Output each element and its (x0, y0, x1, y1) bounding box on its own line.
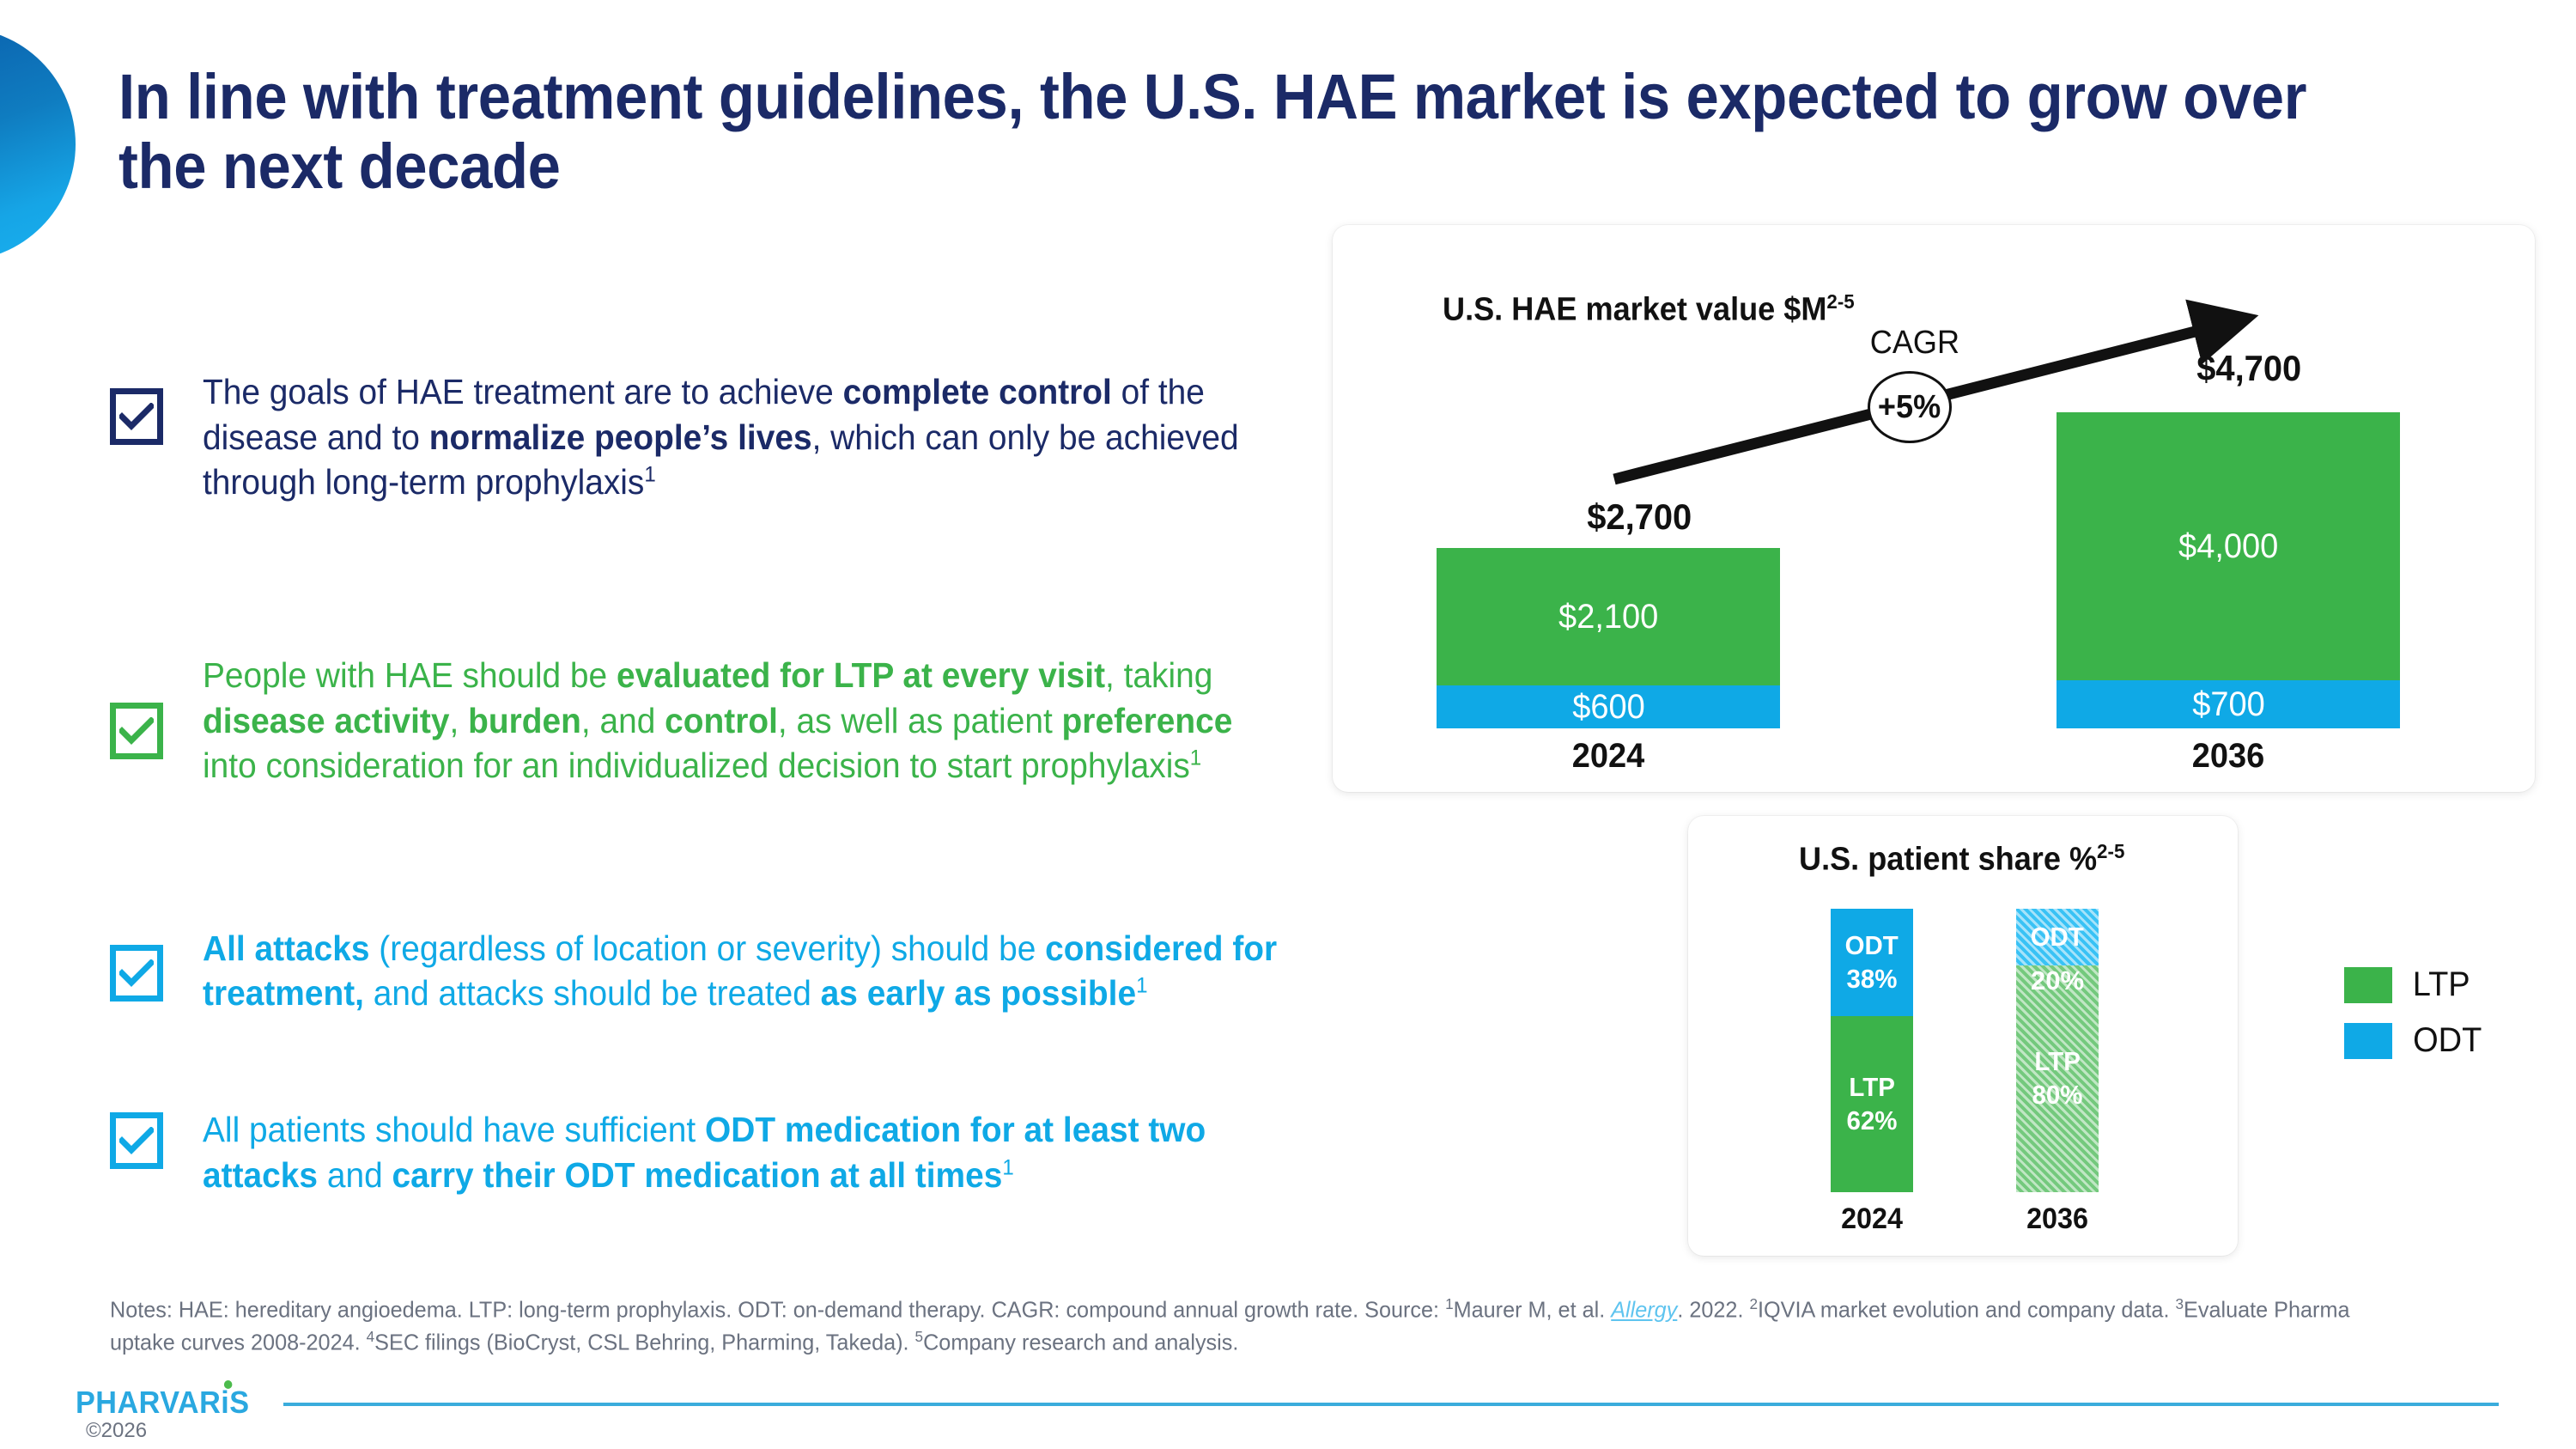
market-bar-2036-odt-value: $700 (2192, 685, 2265, 724)
slide: In line with treatment guidelines, the U… (0, 0, 2576, 1449)
legend-item-odt: ODT (2344, 1021, 2483, 1060)
share-bar-2036-odt-value-wrap: 20% (2016, 965, 2099, 996)
bullet-text-1: The goals of HAE treatment are to achiev… (203, 369, 1292, 505)
logo-part-a: PHARVAR (76, 1385, 221, 1420)
market-bar-2024-ltp: $2,100 (1437, 548, 1780, 685)
notes-sup1: 1 (1445, 1295, 1454, 1312)
market-xlabel-2024: 2024 (1445, 737, 1771, 776)
market-chart-title-text: U.S. HAE market value $M (1443, 292, 1826, 328)
notes-sup4: 4 (367, 1328, 375, 1345)
copyright-text: ©2026 (86, 1419, 147, 1443)
notes-part4: IQVIA market evolution and company data. (1758, 1297, 2175, 1323)
footnotes: Notes: HAE: hereditary angioedema. LTP: … (110, 1294, 2409, 1358)
share-chart-title-text: U.S. patient share % (1799, 842, 2097, 878)
market-bar-2024-ltp-value: $2,100 (1558, 598, 1658, 636)
cagr-label: CAGR (1870, 325, 1959, 362)
logo-part-i: i (221, 1385, 229, 1420)
chart-legend: LTP ODT (2344, 965, 2483, 1077)
share-bar-2024-odt: ODT 38% (1831, 909, 1913, 1016)
notes-part2: Maurer M, et al. (1454, 1297, 1612, 1323)
market-chart-title: U.S. HAE market value $M2-5 (1443, 290, 1855, 329)
legend-label-odt: ODT (2413, 1021, 2482, 1060)
share-bar-2024-odt-name: ODT (1845, 929, 1899, 963)
market-xlabel-2036: 2036 (2065, 737, 2391, 776)
bullet-text-3: All attacks (regardless of location or s… (203, 926, 1292, 1016)
notes-sup5: 5 (915, 1328, 924, 1345)
footer-divider (283, 1403, 2499, 1406)
share-bar-2036-odt: ODT (2016, 909, 2099, 965)
market-total-2024: $2,700 (1587, 496, 1692, 538)
share-bar-2036: ODT LTP 80% 20% (2016, 909, 2099, 1192)
patient-share-card (1688, 816, 2238, 1256)
market-bar-2036-ltp: $4,000 (2057, 412, 2400, 680)
notes-sup2: 2 (1749, 1295, 1758, 1312)
market-bar-2024-odt: $600 (1437, 685, 1780, 728)
list-item: All patients should have sufficient ODT … (110, 1107, 1338, 1197)
cagr-value: +5% (1878, 389, 1941, 426)
logo-part-s: S (229, 1385, 249, 1420)
notes-part3: . 2022. (1677, 1297, 1749, 1323)
share-bar-2024-ltp: LTP 62% (1831, 1016, 1913, 1192)
market-bar-2024-odt-value: $600 (1572, 688, 1645, 727)
list-item: All attacks (regardless of location or s… (110, 926, 1338, 1016)
notes-part6: SEC filings (BioCryst, CSL Behring, Phar… (374, 1329, 914, 1355)
legend-label-ltp: LTP (2413, 965, 2470, 1004)
share-chart-title: U.S. patient share %2-5 (1799, 840, 2124, 879)
share-bar-2024-odt-value: 38% (1847, 963, 1898, 996)
legend-swatch-ltp (2344, 967, 2392, 1003)
market-bar-2036: $4,000 $700 (2057, 412, 2400, 728)
allergy-journal-link[interactable]: Allergy (1611, 1297, 1677, 1323)
share-bar-2036-ltp-value: 80% (2032, 1079, 2083, 1112)
share-bar-2024-ltp-name: LTP (1849, 1071, 1894, 1105)
check-icon (110, 1112, 163, 1169)
share-bar-2024-ltp-value: 62% (1847, 1105, 1898, 1138)
notes-part1: Notes: HAE: hereditary angioedema. LTP: … (110, 1297, 1445, 1323)
legend-item-ltp: LTP (2344, 965, 2483, 1004)
share-bar-2036-ltp-name: LTP (2034, 1045, 2080, 1079)
pharvaris-logo: PHARVARiS (76, 1385, 250, 1421)
list-item: People with HAE should be evaluated for … (110, 653, 1338, 788)
check-icon (110, 703, 163, 759)
market-bar-2036-ltp-value: $4,000 (2178, 527, 2278, 566)
share-bar-2036-odt-name: ODT (2031, 921, 2084, 954)
market-chart-title-sup: 2-5 (1826, 290, 1854, 313)
check-icon (110, 388, 163, 445)
bullet-text-2: People with HAE should be evaluated for … (203, 653, 1292, 788)
share-bar-2036-ltp: LTP 80% (2016, 965, 2099, 1192)
bullet-list: The goals of HAE treatment are to achiev… (110, 369, 1338, 959)
share-chart-title-sup: 2-5 (2097, 840, 2124, 862)
notes-part7: Company research and analysis. (923, 1329, 1238, 1355)
page-title: In line with treatment guidelines, the U… (118, 62, 2354, 202)
bullet-text-4: All patients should have sufficient ODT … (203, 1107, 1292, 1197)
notes-sup3: 3 (2175, 1295, 2184, 1312)
share-bar-2036-odt-value: 20% (2031, 965, 2084, 996)
market-total-2036: $4,700 (2196, 348, 2301, 389)
check-icon (110, 945, 163, 1002)
decorative-arc (0, 27, 76, 261)
list-item: The goals of HAE treatment are to achiev… (110, 369, 1338, 505)
cagr-badge: +5% (1868, 371, 1952, 443)
share-xlabel-2036: 2036 (1992, 1202, 2123, 1236)
share-xlabel-2024: 2024 (1807, 1202, 1937, 1236)
market-bar-2036-odt: $700 (2057, 680, 2400, 728)
legend-swatch-odt (2344, 1023, 2392, 1059)
market-bar-2024: $2,100 $600 (1437, 548, 1780, 728)
share-bar-2024: ODT 38% LTP 62% (1831, 909, 1913, 1192)
